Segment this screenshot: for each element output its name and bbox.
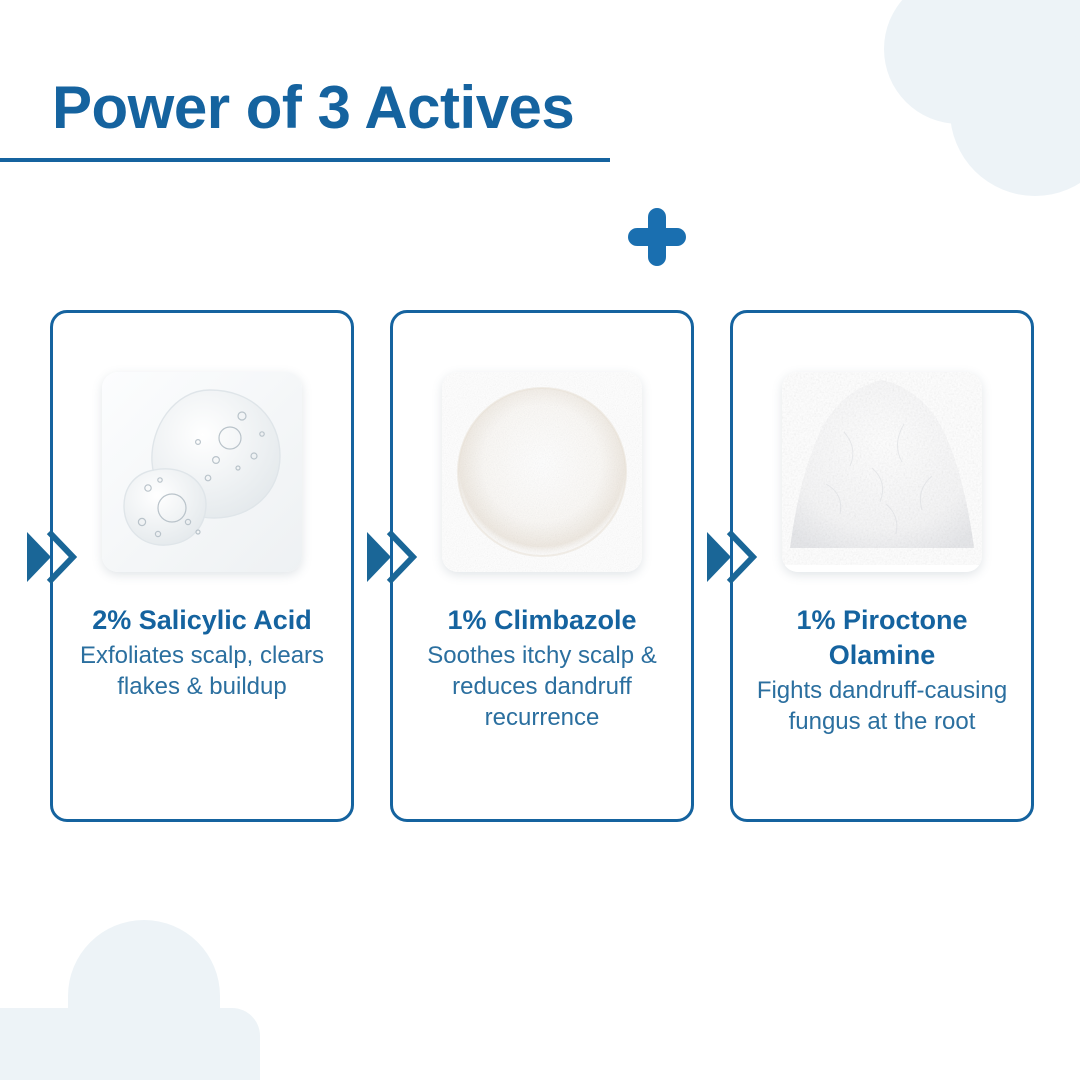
clear-gel-droplets-image	[102, 372, 302, 572]
white-fine-powder-heap-image	[782, 372, 982, 572]
header: Power of 3 Actives	[0, 76, 1080, 196]
plus-cross-icon	[626, 206, 688, 268]
page-title: Power of 3 Actives	[52, 76, 574, 141]
title-divider	[0, 158, 610, 162]
double-chevron-right-icon	[707, 529, 759, 585]
card-description: Exfoliates scalp, clears flakes & buildu…	[71, 641, 333, 702]
active-card-salicylic-acid[interactable]: 2% Salicylic Acid Exfoliates scalp, clea…	[50, 310, 354, 822]
double-chevron-right-icon	[27, 529, 79, 585]
card-description: Soothes itchy scalp & reduces dandruff r…	[411, 641, 673, 733]
card-description: Fights dandruff-causing fungus at the ro…	[751, 676, 1013, 737]
active-card-climbazole[interactable]: 1% Climbazole Soothes itchy scalp & redu…	[390, 310, 694, 822]
infographic-stage: Power of 3 Actives	[0, 0, 1080, 1080]
cloud-shape-bottom-left-band	[0, 1008, 260, 1080]
cloud-shape-bottom-left-bump	[68, 920, 220, 1080]
card-heading: 2% Salicylic Acid	[92, 603, 312, 638]
white-granular-powder-image	[442, 372, 642, 572]
card-heading: 1% Piroctone Olamine	[748, 603, 1016, 673]
actives-card-row: 2% Salicylic Acid Exfoliates scalp, clea…	[50, 310, 1034, 822]
double-chevron-right-icon	[367, 529, 419, 585]
active-card-piroctone-olamine[interactable]: 1% Piroctone Olamine Fights dandruff-cau…	[730, 310, 1034, 822]
card-heading: 1% Climbazole	[447, 603, 636, 638]
